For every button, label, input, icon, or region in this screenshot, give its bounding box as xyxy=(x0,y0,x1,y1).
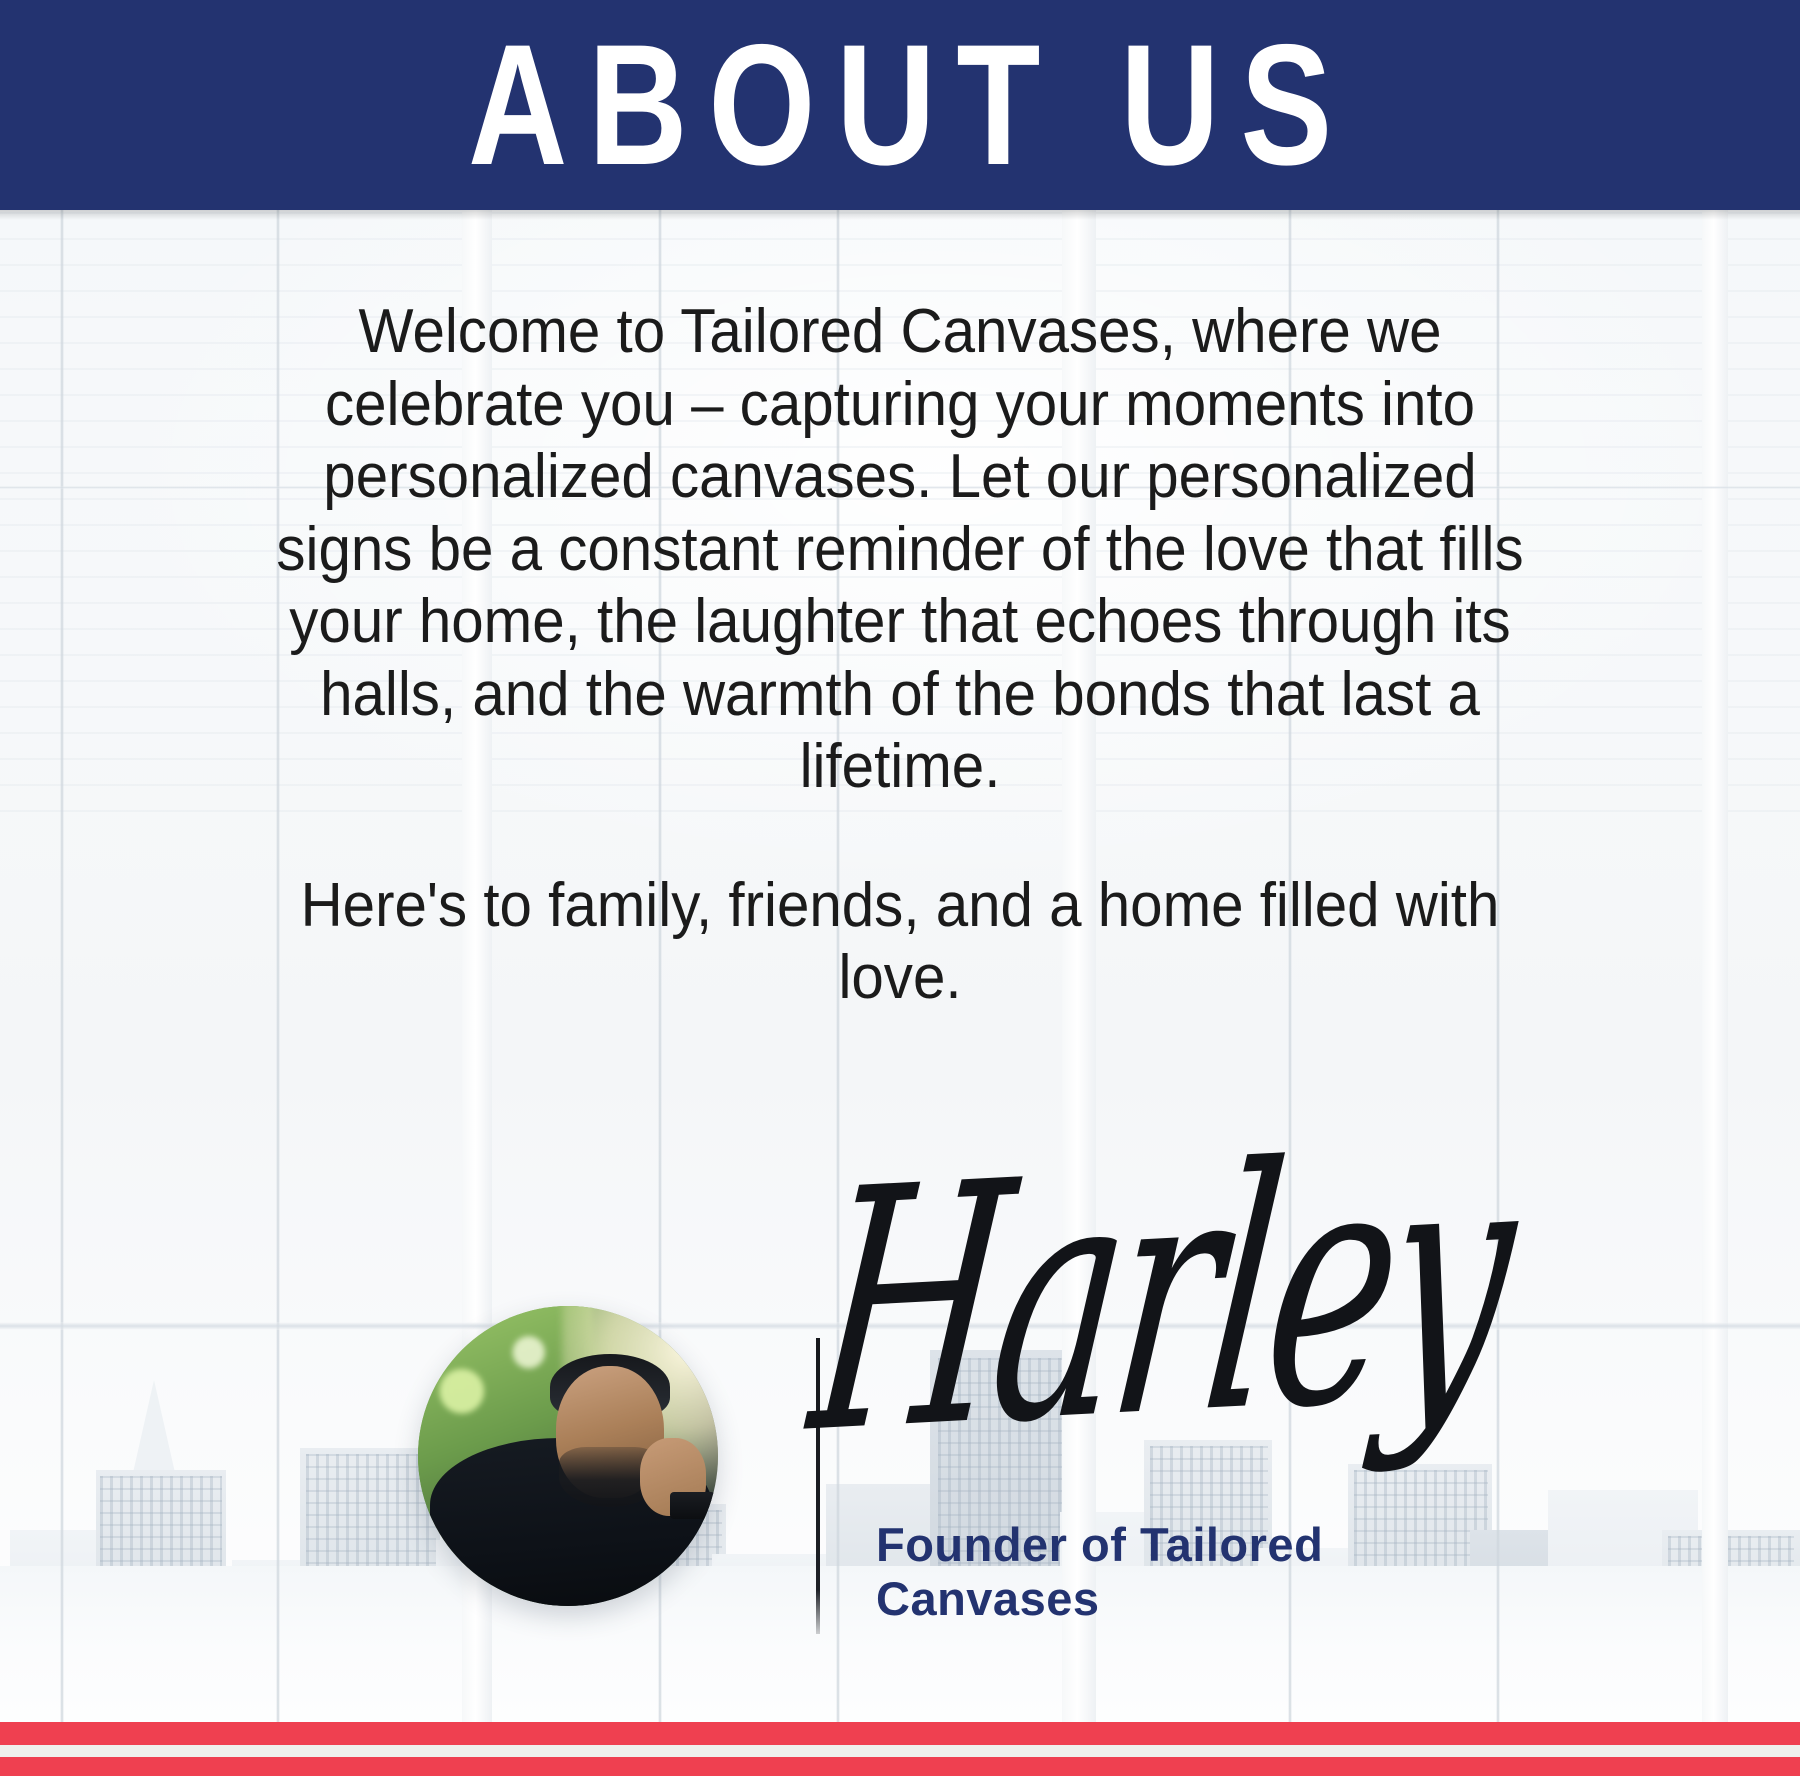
about-copy: Welcome to Tailored Canvases, where we c… xyxy=(251,296,1548,1015)
header-banner: ABOUT US xyxy=(0,0,1800,210)
page-title: ABOUT US xyxy=(447,19,1353,191)
header-shadow xyxy=(0,210,1800,220)
avatar-watch xyxy=(670,1492,715,1519)
footer-bar-top xyxy=(0,1722,1800,1745)
paragraph-spacer xyxy=(251,804,1548,870)
signature-divider xyxy=(816,1338,820,1634)
about-us-card: ABOUT US Welcome to Tailored Canvases, w… xyxy=(0,0,1800,1776)
about-paragraph-1: Welcome to Tailored Canvases, where we c… xyxy=(251,296,1548,804)
avatar xyxy=(418,1306,718,1606)
footer-bar-divider xyxy=(0,1745,1800,1757)
signature-role: Founder of Tailored Canvases xyxy=(876,1518,1436,1625)
about-paragraph-2: Here's to family, friends, and a home fi… xyxy=(251,870,1548,1015)
footer-bar-bottom xyxy=(0,1757,1800,1776)
